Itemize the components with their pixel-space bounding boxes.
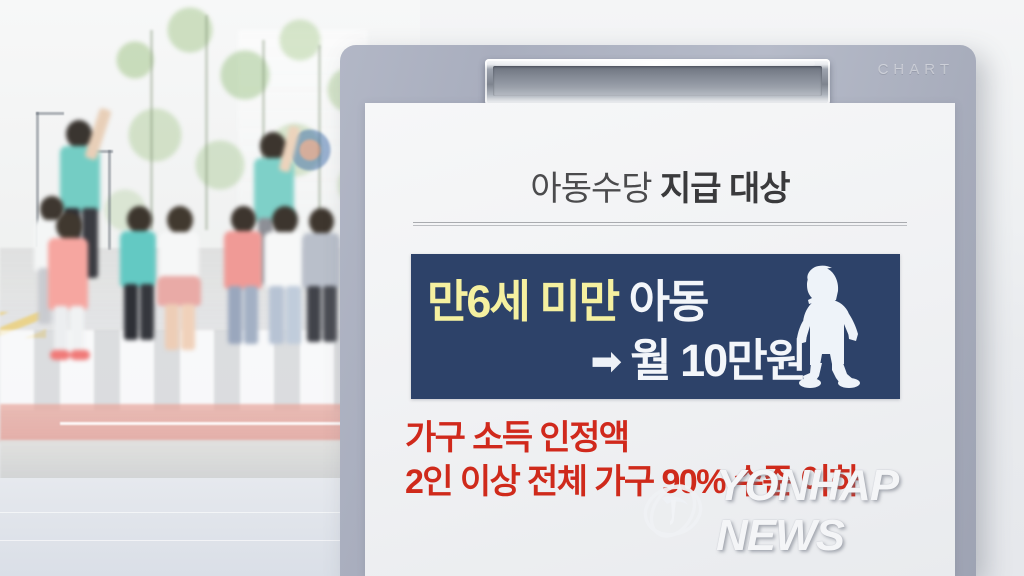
person-child-pink-dress	[46, 212, 102, 392]
infographic-stage: CHART 아동수당 지급 대상 만6세 미만 아동 ➡월 10만원	[0, 0, 1024, 576]
page-title-light: 아동수당	[530, 170, 651, 208]
chart-corner-label: CHART	[878, 61, 954, 78]
highlight-plain-text: 아동	[618, 276, 707, 327]
clip-highlight	[495, 61, 815, 66]
title-divider	[413, 222, 907, 226]
person-child-floral	[157, 206, 215, 388]
walking-child-silhouette	[786, 264, 882, 390]
clip-inner-groove	[493, 66, 822, 96]
tree-trunk	[205, 15, 208, 230]
red-band-white-line	[60, 422, 350, 425]
highlight-amount-text: 월 10만원	[630, 335, 805, 386]
right-arrow-icon: ➡	[590, 339, 622, 384]
highlight-line-1: 만6세 미만 아동	[427, 265, 827, 330]
notes-line-1: 가구 소득 인정액	[405, 416, 950, 460]
yonhap-swirl-logo	[640, 480, 706, 542]
highlight-emphasis-text: 만6세 미만	[427, 276, 618, 327]
lamppost-head	[36, 112, 64, 115]
yonhap-brand-text: YONHAP NEWS	[716, 461, 1012, 561]
page-title: 아동수당 지급 대상	[365, 161, 955, 210]
tree-trunk	[150, 30, 153, 230]
highlight-line-2: ➡월 10만원	[427, 324, 827, 389]
highlight-box: 만6세 미만 아동 ➡월 10만원	[411, 254, 900, 399]
page-title-bold: 지급 대상	[652, 170, 790, 208]
yonhap-watermark: YONHAP NEWS	[640, 478, 1012, 544]
clipboard-metal-clip	[485, 59, 830, 105]
